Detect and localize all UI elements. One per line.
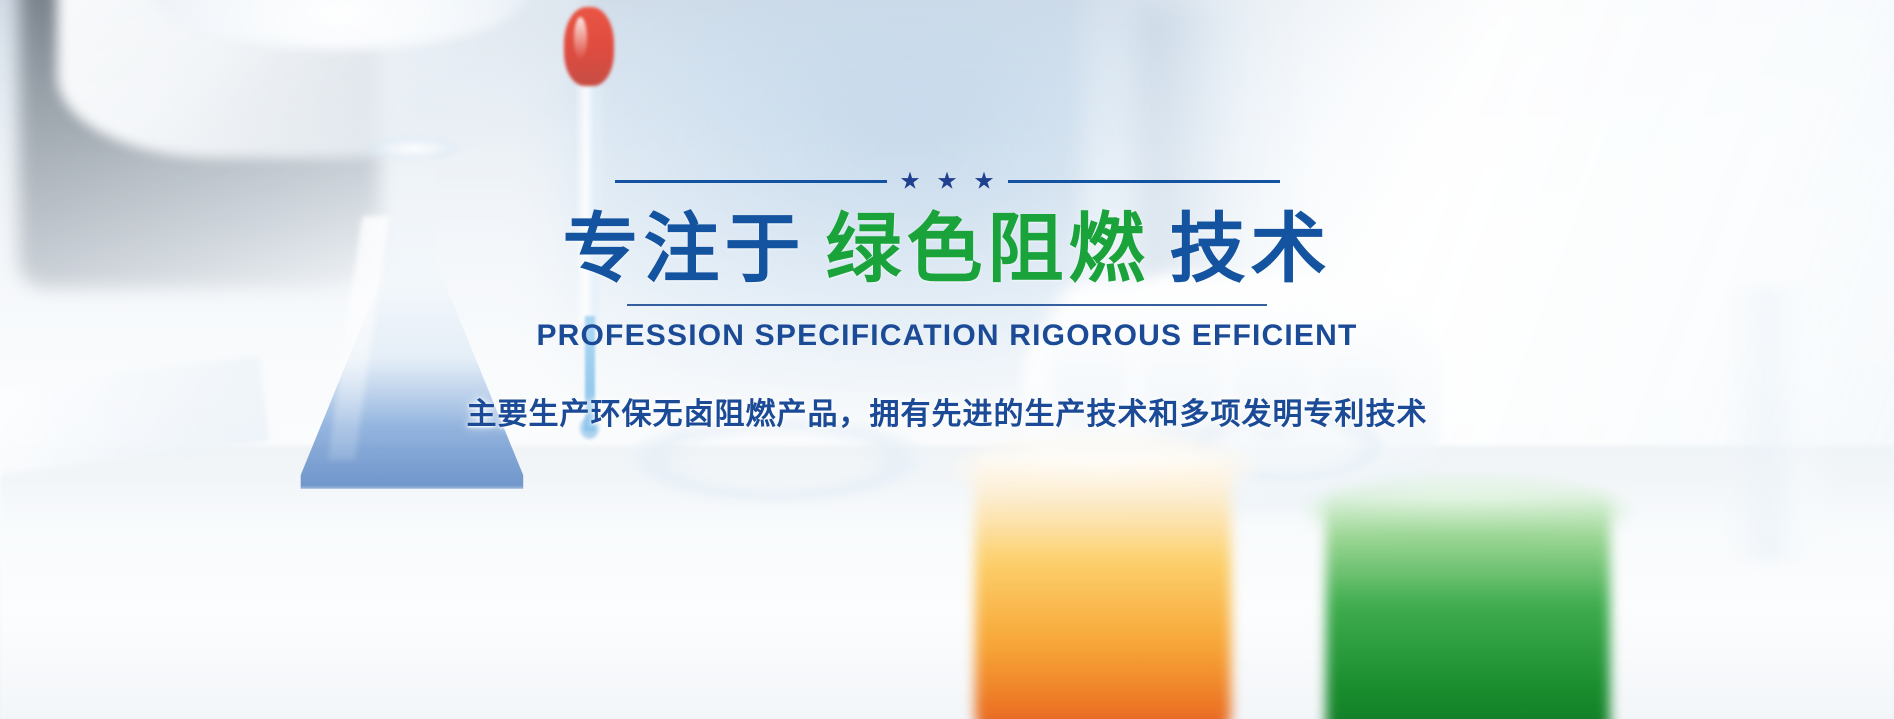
tagline: 主要生产环保无卤阻燃产品，拥有先进的生产技术和多项发明专利技术 [0,389,1894,433]
headline-part-2: 绿色阻燃 [826,207,1150,292]
rule-right [1008,180,1280,183]
headline-part-1: 专注于 [563,207,806,292]
decorative-rule-row [0,168,1894,194]
star-icon [975,172,994,191]
english-subtitle: PROFESSION SPECIFICATION RIGOROUS EFFICI… [0,319,1894,353]
headline-part-3: 技术 [1170,207,1332,292]
banner-content: 专注于绿色阻燃技术 PROFESSION SPECIFICATION RIGOR… [0,168,1894,433]
star-icon [901,172,920,191]
star-icon [938,172,957,191]
subtitle-rule-row [0,304,1894,306]
rule-left [615,180,887,183]
star-group [901,172,994,191]
headline: 专注于绿色阻燃技术 [0,210,1894,290]
subtitle-rule [627,304,1267,306]
hero-banner: 专注于绿色阻燃技术 PROFESSION SPECIFICATION RIGOR… [0,0,1894,719]
